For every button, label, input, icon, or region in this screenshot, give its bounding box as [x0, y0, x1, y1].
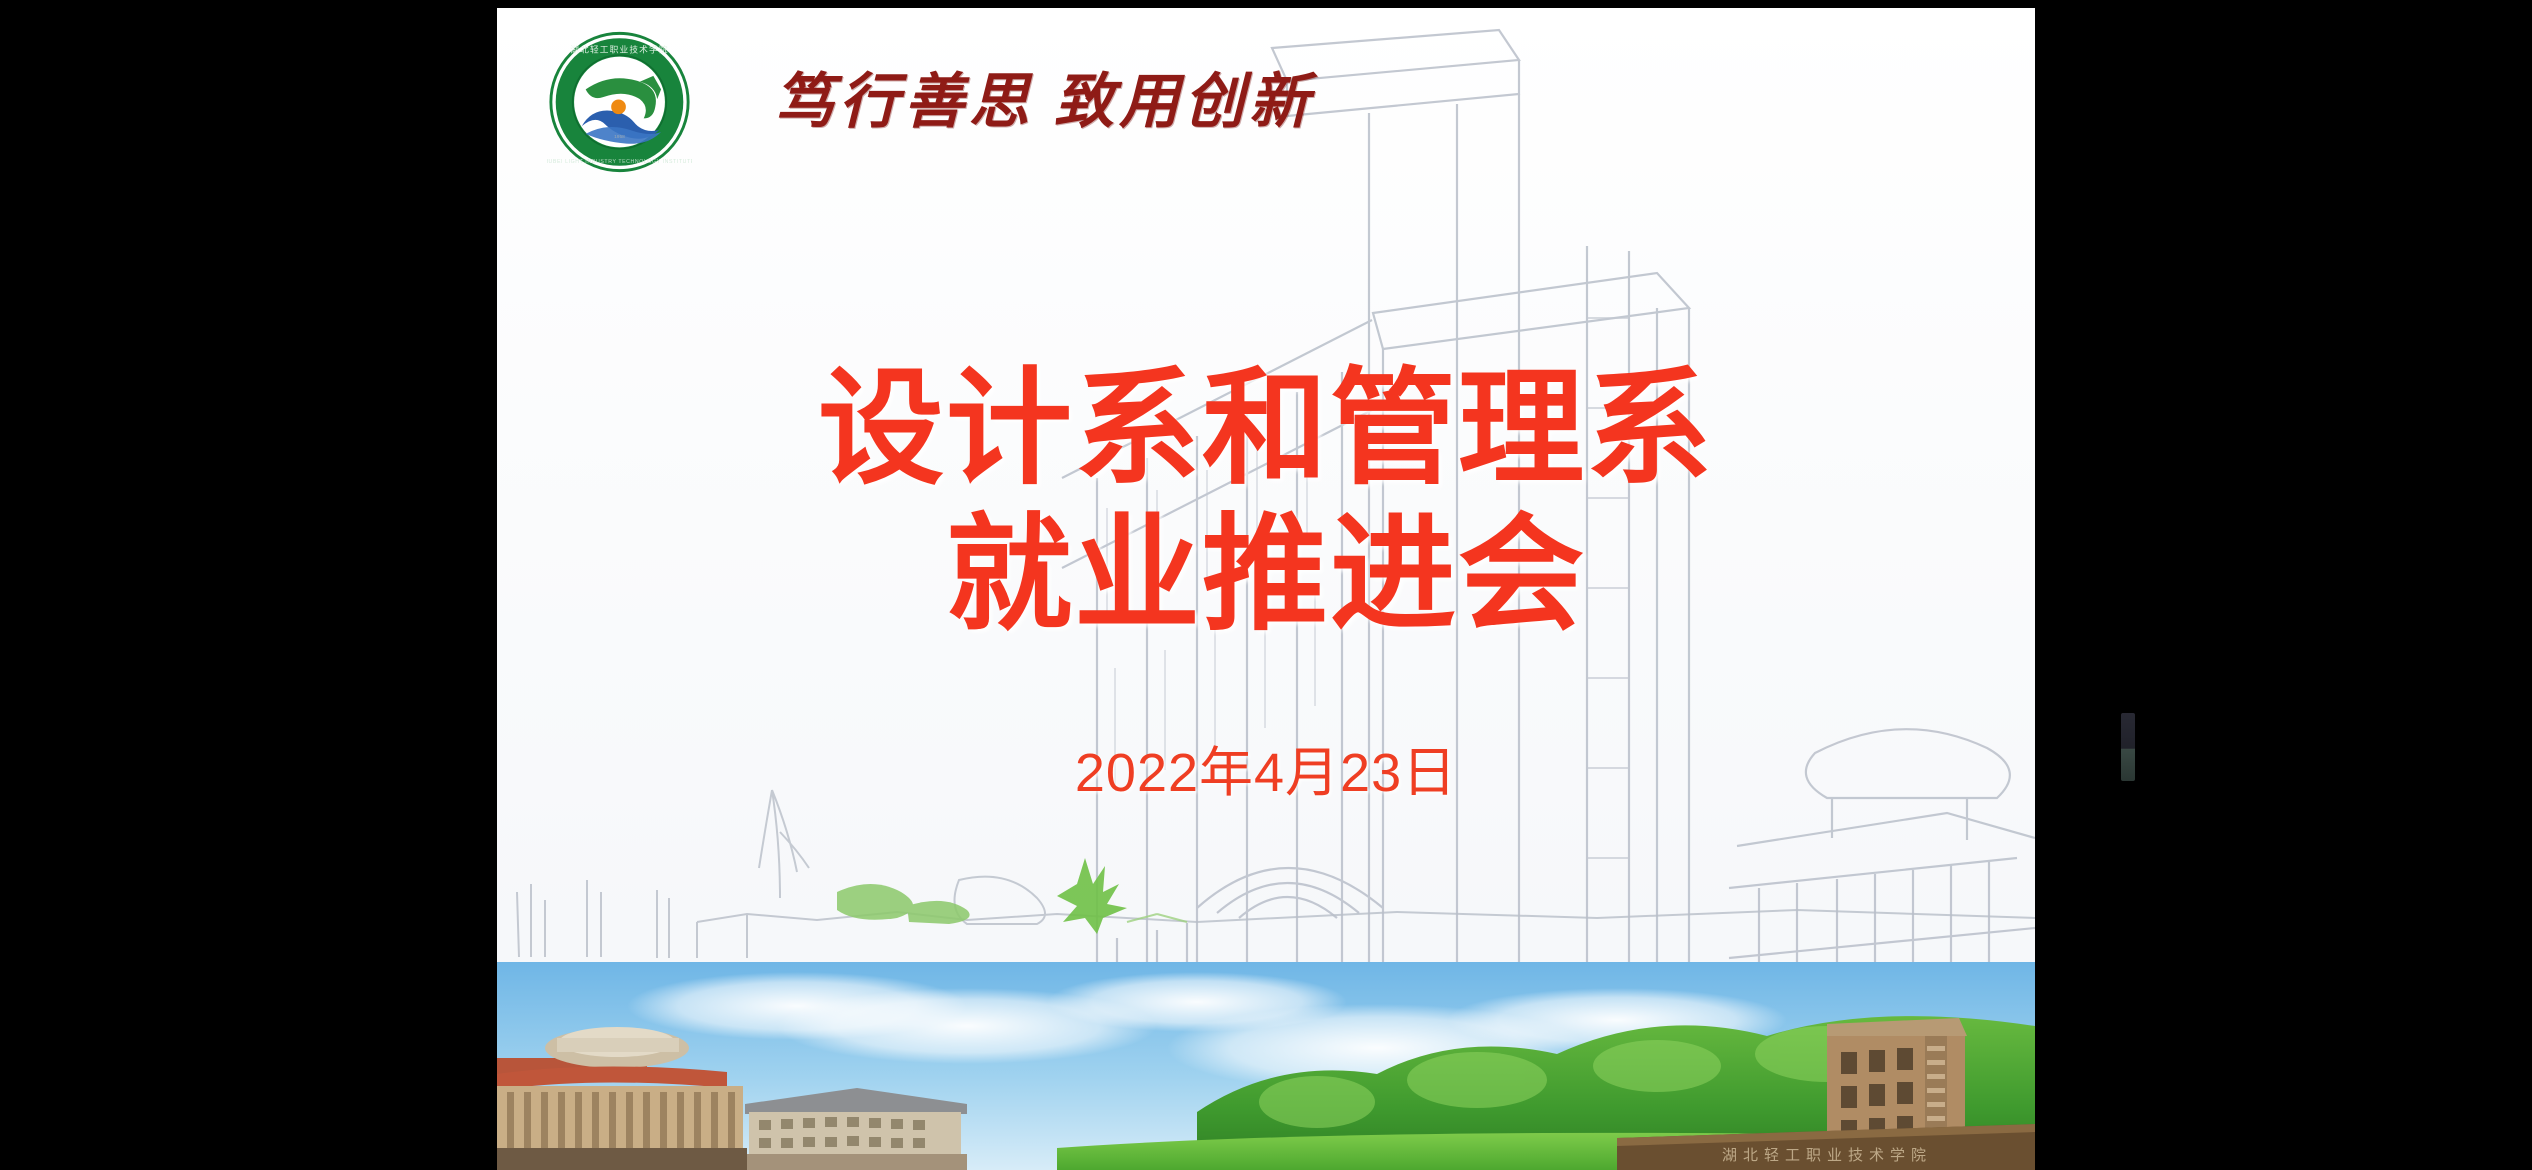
player-side-control[interactable] [2121, 713, 2135, 781]
svg-text:HUBEI LIGHT INDUSTRY TECHNOLOG: HUBEI LIGHT INDUSTRY TECHNOLOGY INSTITUT… [547, 159, 692, 165]
institution-slogan: 笃行善思 致用创新 [774, 72, 1314, 132]
svg-text:1958: 1958 [614, 134, 625, 140]
title-line-2: 就业推进会 [497, 502, 2035, 648]
campus-photo-band: 湖北轻工职业技术学院 [497, 962, 2035, 1170]
title-line-1: 设计系和管理系 [497, 356, 2035, 502]
university-emblem-icon: 湖北轻工职业技术学院 HUBEI LIGHT INDUSTRY TECHNOLO… [547, 28, 692, 176]
screen-root: 湖北轻工职业技术学院 HUBEI LIGHT INDUSTRY TECHNOLO… [0, 0, 2532, 1170]
title-block: 设计系和管理系 就业推进会 2022年4月23日 [497, 356, 2035, 807]
svg-text:湖北轻工职业技术学院: 湖北轻工职业技术学院 [570, 44, 668, 55]
event-date: 2022年4月23日 [497, 728, 2035, 807]
slide-header: 湖北轻工职业技术学院 HUBEI LIGHT INDUSTRY TECHNOLO… [547, 28, 1314, 176]
svg-text:湖北轻工职业技术学院: 湖北轻工职业技术学院 [1722, 1146, 1932, 1164]
presentation-slide[interactable]: 湖北轻工职业技术学院 HUBEI LIGHT INDUSTRY TECHNOLO… [497, 8, 2035, 1170]
